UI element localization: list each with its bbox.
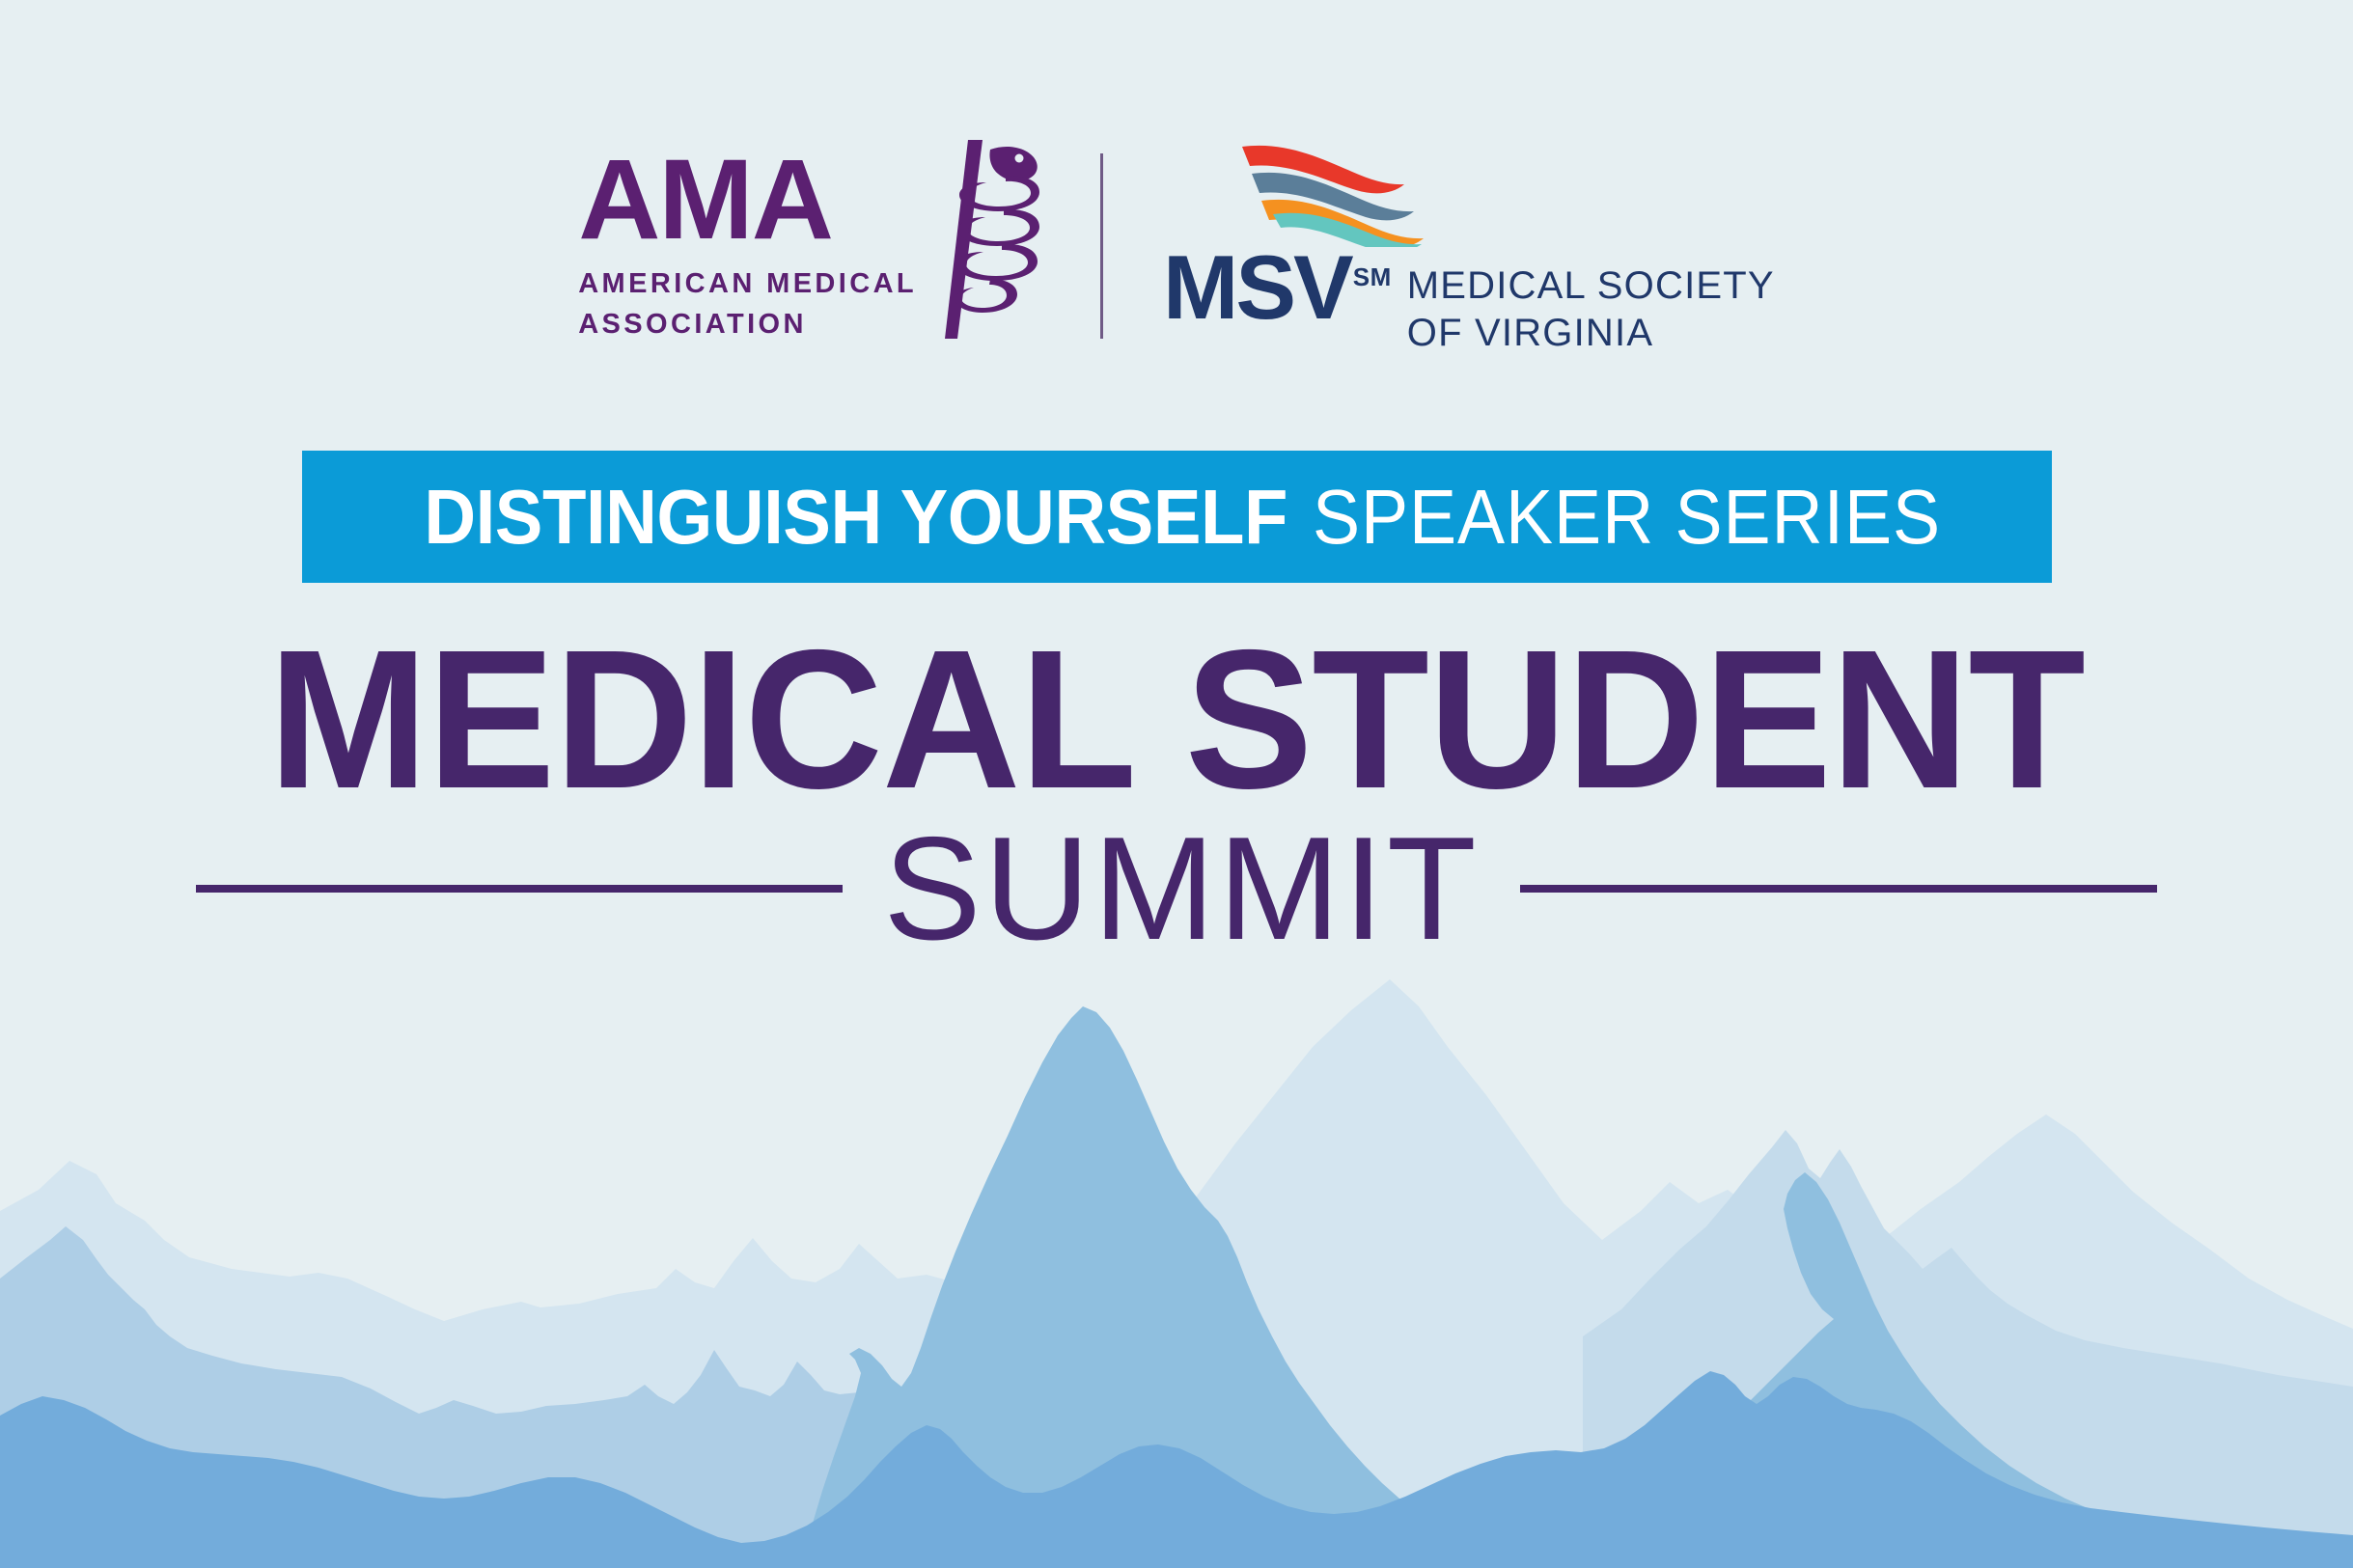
msv-service-mark: SM	[1353, 262, 1392, 291]
summit-row: SUMMIT	[0, 815, 2353, 962]
ama-wordblock: AMA AMERICAN MEDICAL ASSOCIATION	[578, 148, 917, 345]
poster-canvas: AMA AMERICAN MEDICAL ASSOCIATION	[0, 0, 2353, 1568]
summit-rule-left	[196, 885, 843, 893]
msv-logo: MSVSM MEDICAL SOCIETY OF VIRGINIA	[1103, 139, 1775, 357]
msv-full-name: MEDICAL SOCIETY OF VIRGINIA	[1407, 249, 1775, 357]
page-title: MEDICAL STUDENT	[36, 625, 2318, 815]
ama-subtitle-line-1: AMERICAN MEDICAL	[578, 263, 917, 304]
headline-block: MEDICAL STUDENT	[0, 625, 2353, 815]
ama-subtitle: AMERICAN MEDICAL ASSOCIATION	[578, 263, 917, 344]
msv-lockup: MSVSM MEDICAL SOCIETY OF VIRGINIA	[1163, 249, 1775, 357]
mountain-illustration	[0, 950, 2353, 1568]
msv-wave-flag-mark-icon	[1229, 139, 1429, 247]
ama-subtitle-line-2: ASSOCIATION	[578, 304, 917, 344]
msv-acronym: MSVSM	[1163, 249, 1390, 327]
page-subtitle: SUMMIT	[883, 815, 1479, 962]
banner-bold-text: DISTINGUISH YOURSELF	[424, 473, 1287, 562]
msv-name-line-1: MEDICAL SOCIETY	[1407, 262, 1775, 310]
msv-acronym-text: MSV	[1163, 236, 1351, 338]
summit-rule-right	[1520, 885, 2157, 893]
logo-row: AMA AMERICAN MEDICAL ASSOCIATION	[0, 135, 2353, 357]
banner-light-text: SPEAKER SERIES	[1313, 473, 1941, 562]
asclepius-staff-serpent-icon	[898, 134, 1042, 342]
speaker-series-banner: DISTINGUISH YOURSELF SPEAKER SERIES	[302, 451, 2052, 583]
ama-acronym: AMA	[578, 148, 832, 253]
ama-logo: AMA AMERICAN MEDICAL ASSOCIATION	[578, 148, 1100, 345]
msv-name-line-2: OF VIRGINIA	[1407, 310, 1775, 357]
